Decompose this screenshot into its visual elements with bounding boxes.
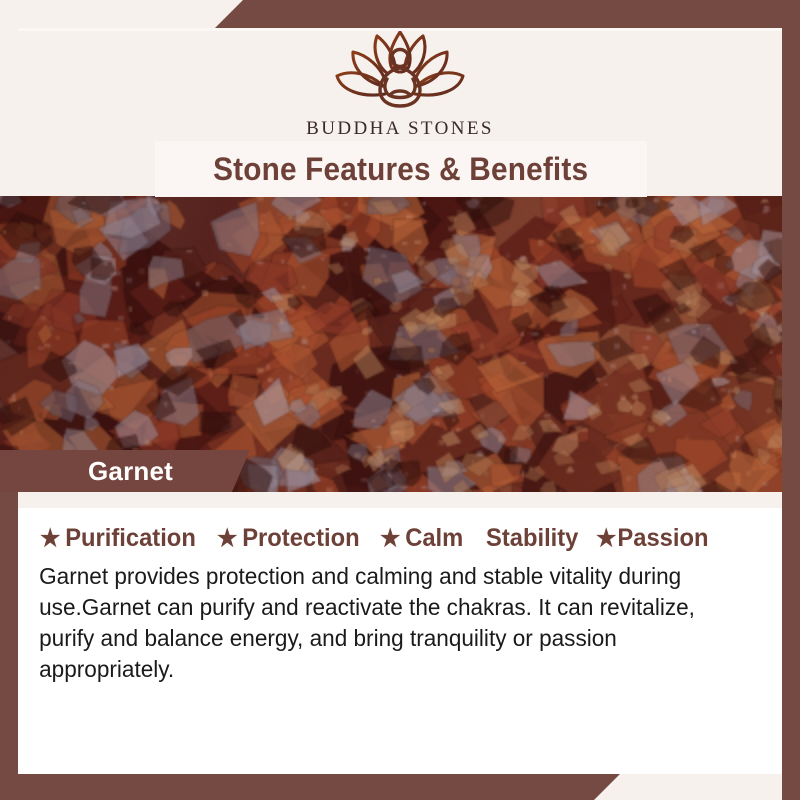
benefit-item-calm: ★Calm xyxy=(380,524,463,553)
hero-image-garnet xyxy=(0,196,800,492)
frame-left-bar xyxy=(0,492,18,800)
benefit-item-passion: ★Passion xyxy=(596,524,708,553)
benefit-label: Stability xyxy=(486,524,578,553)
benefit-label: Passion xyxy=(617,524,708,553)
stone-name-label: Garnet xyxy=(0,456,173,487)
star-icon: ★ xyxy=(380,527,400,551)
benefit-label: Purification xyxy=(65,524,196,553)
page-title: Stone Features & Benefits xyxy=(213,151,588,188)
benefit-item-purification: ★Purification xyxy=(40,524,196,553)
frame-inner-highlight-line xyxy=(18,28,782,31)
description-text: Garnet provides protection and calming a… xyxy=(18,553,751,685)
stone-name-ribbon: Garnet xyxy=(0,450,250,492)
benefits-list: ★Purification★Protection★CalmStability★P… xyxy=(18,508,782,553)
garnet-texture-canvas xyxy=(0,196,800,492)
benefit-label: Protection xyxy=(242,524,359,553)
infographic-card: BUDDHA STONES Stone Features & Benefits … xyxy=(0,0,800,800)
frame-top-bar xyxy=(215,0,800,28)
frame-bottom-bar xyxy=(0,774,620,800)
content-card: ★Purification★Protection★CalmStability★P… xyxy=(18,508,782,774)
benefit-item-protection: ★Protection xyxy=(217,524,360,553)
lotus-meditation-figure-icon xyxy=(325,24,475,116)
frame-right-bar xyxy=(782,0,800,800)
star-icon: ★ xyxy=(40,527,60,551)
brand-logo-block: BUDDHA STONES xyxy=(0,24,800,144)
benefit-item-stability: Stability xyxy=(486,524,578,553)
brand-wordmark: BUDDHA STONES xyxy=(306,118,494,140)
star-icon: ★ xyxy=(596,527,616,551)
star-icon: ★ xyxy=(217,527,237,551)
title-banner: Stone Features & Benefits xyxy=(155,141,647,197)
benefit-label: Calm xyxy=(405,524,463,553)
